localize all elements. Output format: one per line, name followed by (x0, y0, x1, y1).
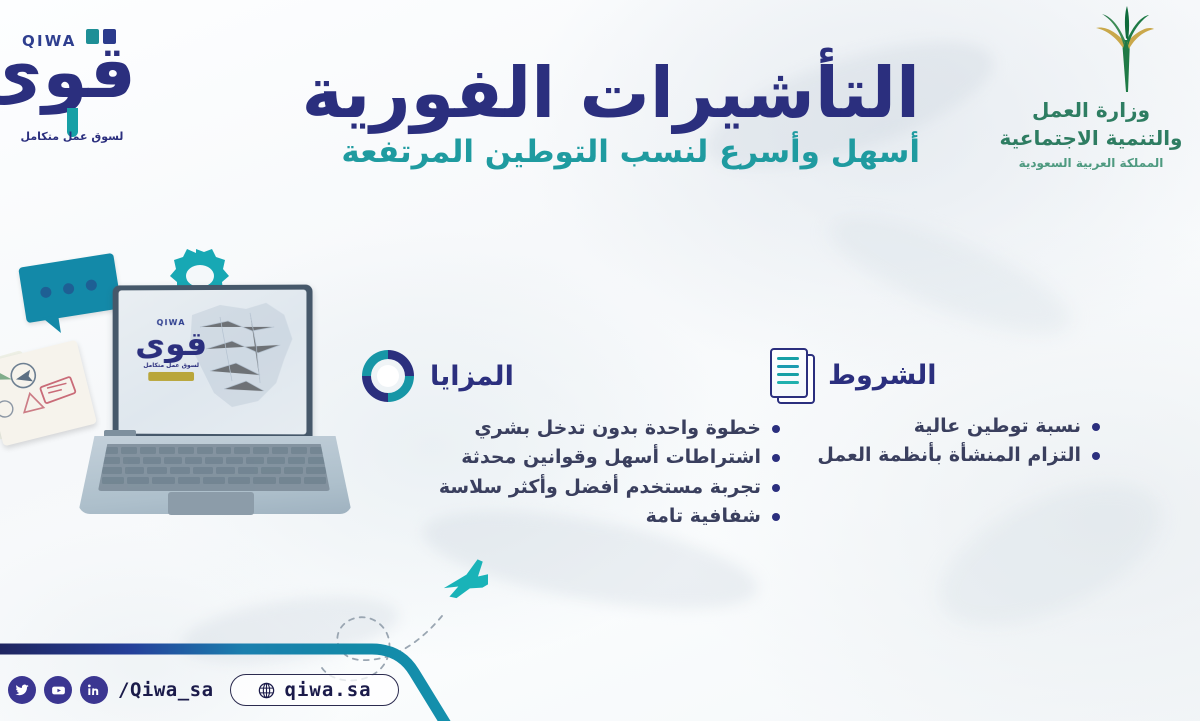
section-benefits-list: خطوة واحدة بدون تدخل بشري اشتراطات أسهل … (360, 414, 780, 532)
social-handle[interactable]: /Qiwa_sa (118, 679, 214, 701)
list-item: التزام المنشأة بأنظمة العمل (770, 441, 1100, 470)
list-item-label: شفافية تامة (646, 502, 761, 531)
list-item: اشتراطات أسهل وقوانين محدثة (360, 443, 780, 472)
section-conditions-title: الشروط (828, 360, 937, 391)
qiwa-logo-arabic: قوى (8, 36, 136, 109)
linkedin-icon[interactable] (80, 676, 108, 704)
qiwa-logo[interactable]: QIWA قوى لسوق عمل متكامل (8, 22, 136, 147)
list-item-label: تجربة مستخدم أفضل وأكثر سلاسة (439, 473, 761, 502)
twitter-icon[interactable] (8, 676, 36, 704)
list-item-label: نسبة توطين عالية (914, 412, 1081, 441)
bg-vein (816, 194, 1083, 356)
website-url: qiwa.sa (285, 679, 372, 701)
laptop-screen-badge (148, 372, 194, 381)
page-subtitle: أسهل وأسرع لنسب التوطين المرتفعة (300, 134, 920, 170)
ministry-line-3: المملكة العربية السعودية (996, 156, 1186, 170)
youtube-icon[interactable] (44, 676, 72, 704)
laptop-screen-logo-arabic: قوى (132, 327, 210, 360)
list-item: تجربة مستخدم أفضل وأكثر سلاسة (360, 473, 780, 502)
bullet-icon (772, 513, 780, 521)
headline-block: التأشيرات الفورية أسهل وأسرع لنسب التوطي… (300, 58, 920, 170)
bullet-icon (1092, 452, 1100, 460)
list-item-label: خطوة واحدة بدون تدخل بشري (474, 414, 761, 443)
list-item-label: اشتراطات أسهل وقوانين محدثة (461, 443, 761, 472)
bullet-icon (772, 425, 780, 433)
globe-icon (257, 681, 276, 700)
page-title: التأشيرات الفورية (300, 58, 920, 128)
laptop-lid: QIWA قوى لسوق عمل متكامل (113, 285, 313, 441)
list-item: خطوة واحدة بدون تدخل بشري (360, 414, 780, 443)
airplane-icon (439, 553, 488, 601)
passport-icon (0, 340, 97, 447)
laptop-screen-tagline: لسوق عمل متكامل (132, 362, 210, 369)
section-benefits-header: المزايا (360, 348, 780, 404)
section-benefits-title: المزايا (430, 361, 514, 392)
bullet-icon (772, 484, 780, 492)
palm-tree-icon (1092, 6, 1156, 92)
section-conditions-list: نسبة توطين عالية التزام المنشأة بأنظمة ا… (770, 412, 1100, 471)
bullet-icon (772, 454, 780, 462)
list-item: نسبة توطين عالية (770, 412, 1100, 441)
qiwa-logo-tagline: لسوق عمل متكامل (8, 130, 136, 143)
bg-vein (918, 454, 1182, 655)
bullet-icon (1092, 423, 1100, 431)
section-conditions-header: الشروط (770, 348, 1100, 402)
ministry-line-1: وزارة العمل (996, 98, 1186, 122)
list-item-label: التزام المنشأة بأنظمة العمل (817, 441, 1081, 470)
laptop-keyboard (98, 444, 330, 491)
infographic-canvas: QIWA قوى لسوق عمل متكامل وزارة العمل وال… (0, 0, 1200, 721)
laptop-illustration: QIWA قوى لسوق عمل متكامل (0, 240, 420, 570)
footer: /Qiwa_sa qiwa.sa (8, 670, 399, 710)
ministry-line-2: والتنمية الاجتماعية (996, 126, 1186, 150)
section-benefits: المزايا خطوة واحدة بدون تدخل بشري اشتراط… (360, 348, 780, 532)
website-button[interactable]: qiwa.sa (230, 674, 399, 706)
section-conditions: الشروط نسبة توطين عالية التزام المنشأة ب… (770, 348, 1100, 471)
laptop-screen: QIWA قوى لسوق عمل متكامل (119, 290, 307, 435)
laptop-trackpad (168, 492, 254, 515)
laptop-screen-logo: QIWA قوى لسوق عمل متكامل (132, 318, 210, 381)
chat-bubble-icon (18, 253, 122, 323)
ministry-logo: وزارة العمل والتنمية الاجتماعية المملكة … (996, 6, 1186, 186)
list-item: شفافية تامة (360, 502, 780, 531)
